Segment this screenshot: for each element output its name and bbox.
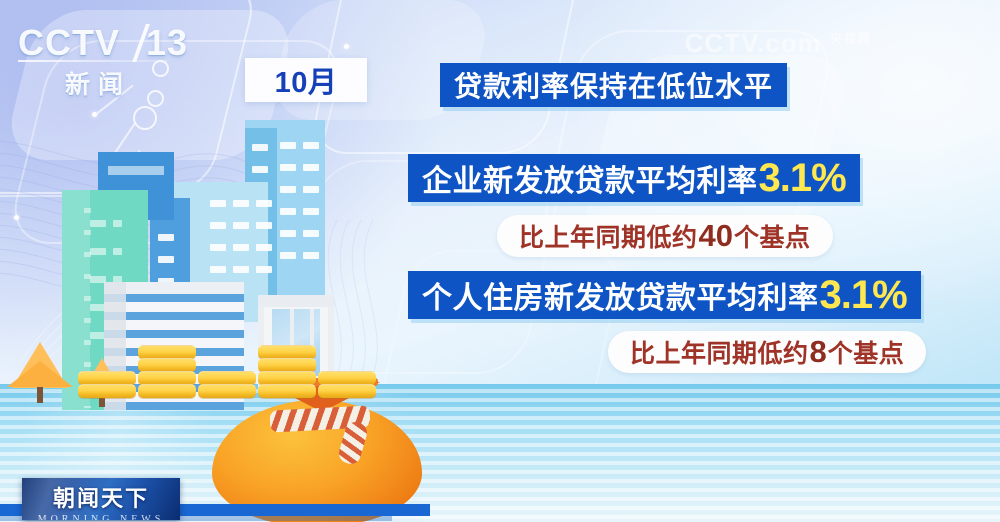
coin-stack: [258, 346, 316, 410]
cctv-logo-row: CCTV 13: [18, 24, 193, 62]
coin-stack: [198, 372, 256, 410]
building-cap: [258, 295, 334, 307]
coin-stack: [78, 372, 136, 410]
stat-banner-corporate: 企业新发放贷款平均利率 3.1%: [408, 154, 860, 202]
coin-icon: [78, 384, 136, 398]
city-illustration: [0, 120, 430, 410]
cctv-channel-number: 13: [146, 25, 188, 61]
coin-icon: [258, 384, 316, 398]
coin-icon: [78, 371, 136, 385]
stat-value-mortgage: 3.1%: [820, 273, 907, 318]
coin-icon: [138, 358, 196, 372]
program-name-cn: 朝闻天下: [22, 481, 180, 513]
cctv-com-watermark: CCTV.com 央视网: [685, 28, 872, 59]
coin-icon: [318, 371, 376, 385]
coin-icon: [198, 371, 256, 385]
pill-value-corporate: 40: [699, 218, 733, 254]
coin-icon: [318, 384, 376, 398]
stat-label-corporate: 企业新发放贷款平均利率: [422, 156, 758, 200]
headline-text: 贷款利率保持在低位水平: [454, 65, 773, 105]
pill-prefix-corporate: 比上年同期低约: [519, 218, 698, 254]
coin-icon: [258, 371, 316, 385]
tree-icon: [12, 342, 68, 388]
stat-pill-mortgage: 比上年同期低约 8 个基点: [608, 331, 926, 373]
watermark-text: CCTV.com: [685, 28, 822, 58]
coin-icon: [138, 371, 196, 385]
cctv-wordmark: CCTV: [18, 25, 120, 61]
coin-icon: [138, 345, 196, 359]
program-name-en: MORNING NEWS: [22, 514, 180, 520]
dot-node-icon: [92, 112, 97, 117]
pill-suffix-mortgage: 个基点: [828, 334, 905, 370]
cctv-slash-icon: [116, 24, 150, 62]
cctv-channel-sub: 新闻: [18, 65, 170, 101]
program-logo: 朝闻天下 MORNING NEWS: [22, 478, 180, 520]
month-label-chip: 10月: [245, 58, 367, 102]
coin-stack: [138, 346, 196, 410]
pill-value-mortgage: 8: [810, 334, 827, 370]
pill-suffix-corporate: 个基点: [734, 218, 811, 254]
coin-stack: [318, 372, 376, 410]
coin-icon: [198, 384, 256, 398]
stat-banner-mortgage: 个人住房新发放贷款平均利率 3.1%: [408, 271, 921, 319]
stat-value-corporate: 3.1%: [759, 156, 846, 201]
stat-pill-corporate: 比上年同期低约 40 个基点: [497, 215, 833, 257]
cctv-channel-logo: CCTV 13 新闻: [18, 24, 193, 96]
coin-icon: [138, 384, 196, 398]
headline-banner: 贷款利率保持在低位水平: [440, 63, 787, 107]
month-label-text: 10月: [275, 59, 338, 101]
pill-prefix-mortgage: 比上年同期低约: [630, 334, 809, 370]
dot-node-icon: [344, 44, 349, 49]
stat-label-mortgage: 个人住房新发放贷款平均利率: [422, 273, 819, 317]
coin-icon: [258, 358, 316, 372]
news-graphic-stage: CCTV 13 新闻 CCTV.com 央视网: [0, 0, 1000, 522]
coin-icon: [258, 345, 316, 359]
watermark-sub-text: 央视网: [830, 31, 872, 45]
